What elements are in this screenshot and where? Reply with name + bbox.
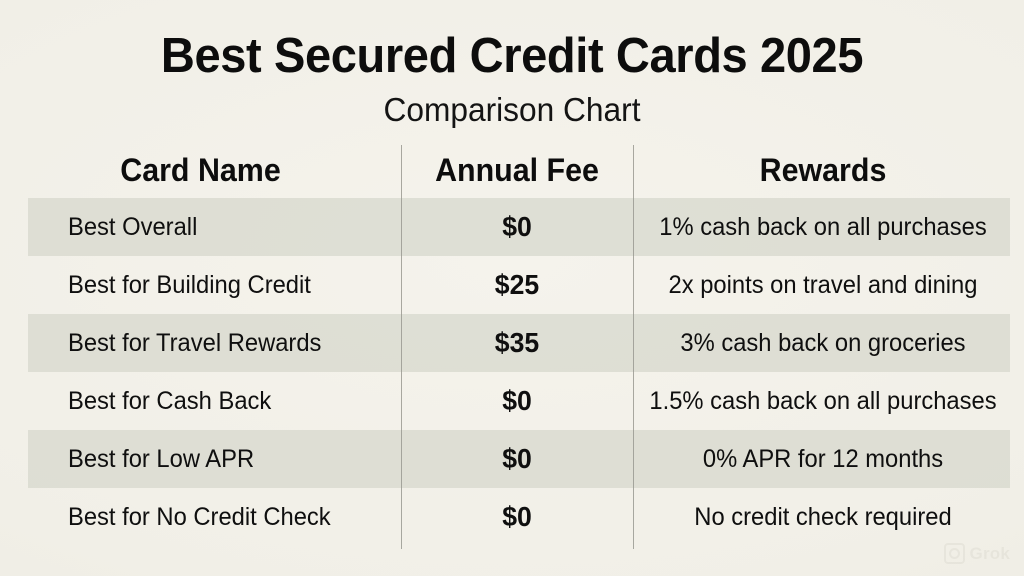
cell-rewards: 0% APR for 12 months: [643, 430, 1004, 488]
column-header-rewards: Rewards: [643, 149, 1004, 191]
cell-card-name: Best for No Credit Check: [68, 488, 382, 546]
table-row: Best for Building Credit $25 2x points o…: [0, 256, 1024, 314]
cell-rewards: No credit check required: [643, 488, 1004, 546]
cell-annual-fee: $0: [407, 372, 627, 430]
cell-card-name: Best for Low APR: [68, 430, 382, 488]
page-subtitle: Comparison Chart: [20, 90, 1003, 130]
cell-card-name: Best Overall: [68, 198, 382, 256]
cell-card-name: Best for Cash Back: [68, 372, 382, 430]
table-row: Best Overall $0 1% cash back on all purc…: [0, 198, 1024, 256]
table-row: Best for Travel Rewards $35 3% cash back…: [0, 314, 1024, 372]
cell-card-name: Best for Building Credit: [68, 256, 382, 314]
table-row: Best for Cash Back $0 1.5% cash back on …: [0, 372, 1024, 430]
cell-annual-fee: $35: [407, 314, 627, 372]
cell-rewards: 1.5% cash back on all purchases: [643, 372, 1004, 430]
comparison-chart-sheet: Best Secured Credit Cards 2025 Compariso…: [0, 0, 1024, 576]
cell-annual-fee: $0: [407, 198, 627, 256]
cell-card-name: Best for Travel Rewards: [68, 314, 382, 372]
column-header-annual-fee: Annual Fee: [407, 149, 627, 191]
cell-rewards: 1% cash back on all purchases: [643, 198, 1004, 256]
cell-annual-fee: $0: [407, 430, 627, 488]
table-row: Best for Low APR $0 0% APR for 12 months: [0, 430, 1024, 488]
cell-annual-fee: $25: [407, 256, 627, 314]
table-body: Best Overall $0 1% cash back on all purc…: [0, 198, 1024, 546]
table-row: Best for No Credit Check $0 No credit ch…: [0, 488, 1024, 546]
comparison-table: Card Name Annual Fee Rewards Best Overal…: [0, 143, 1024, 553]
cell-rewards: 2x points on travel and dining: [643, 256, 1004, 314]
column-header-card-name: Card Name: [10, 149, 391, 191]
page-title: Best Secured Credit Cards 2025: [20, 27, 1003, 85]
cell-rewards: 3% cash back on groceries: [643, 314, 1004, 372]
table-header-row: Card Name Annual Fee Rewards: [0, 143, 1024, 198]
cell-annual-fee: $0: [407, 488, 627, 546]
